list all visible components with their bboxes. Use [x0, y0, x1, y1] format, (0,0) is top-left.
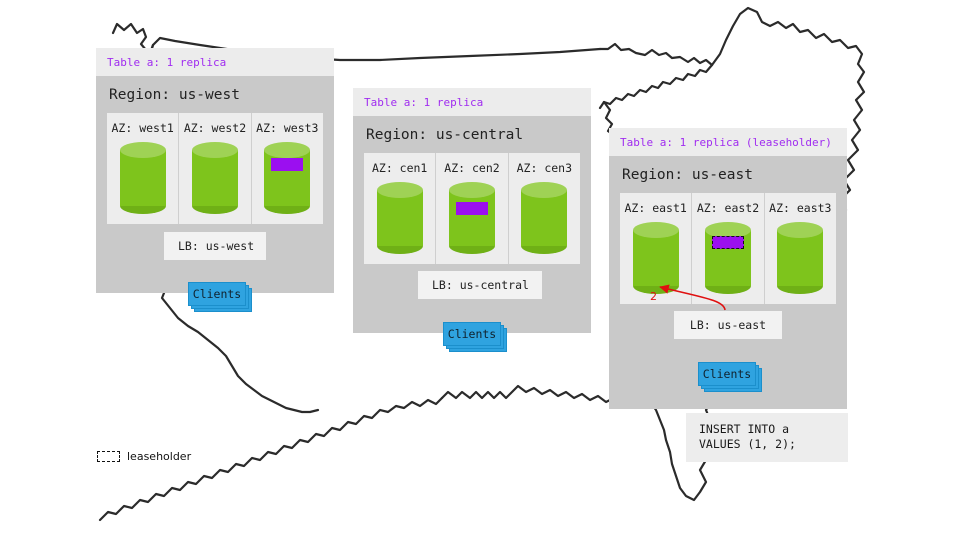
legend-label: leaseholder [127, 450, 191, 463]
dashed-rect-swatch-icon [97, 451, 120, 462]
diagram-canvas: Table a: 1 replica Region: us-west AZ: w… [0, 0, 960, 540]
arrow-step-label: 2 [650, 290, 657, 303]
insert-routing-arrow [660, 287, 725, 310]
legend: leaseholder [97, 450, 191, 463]
